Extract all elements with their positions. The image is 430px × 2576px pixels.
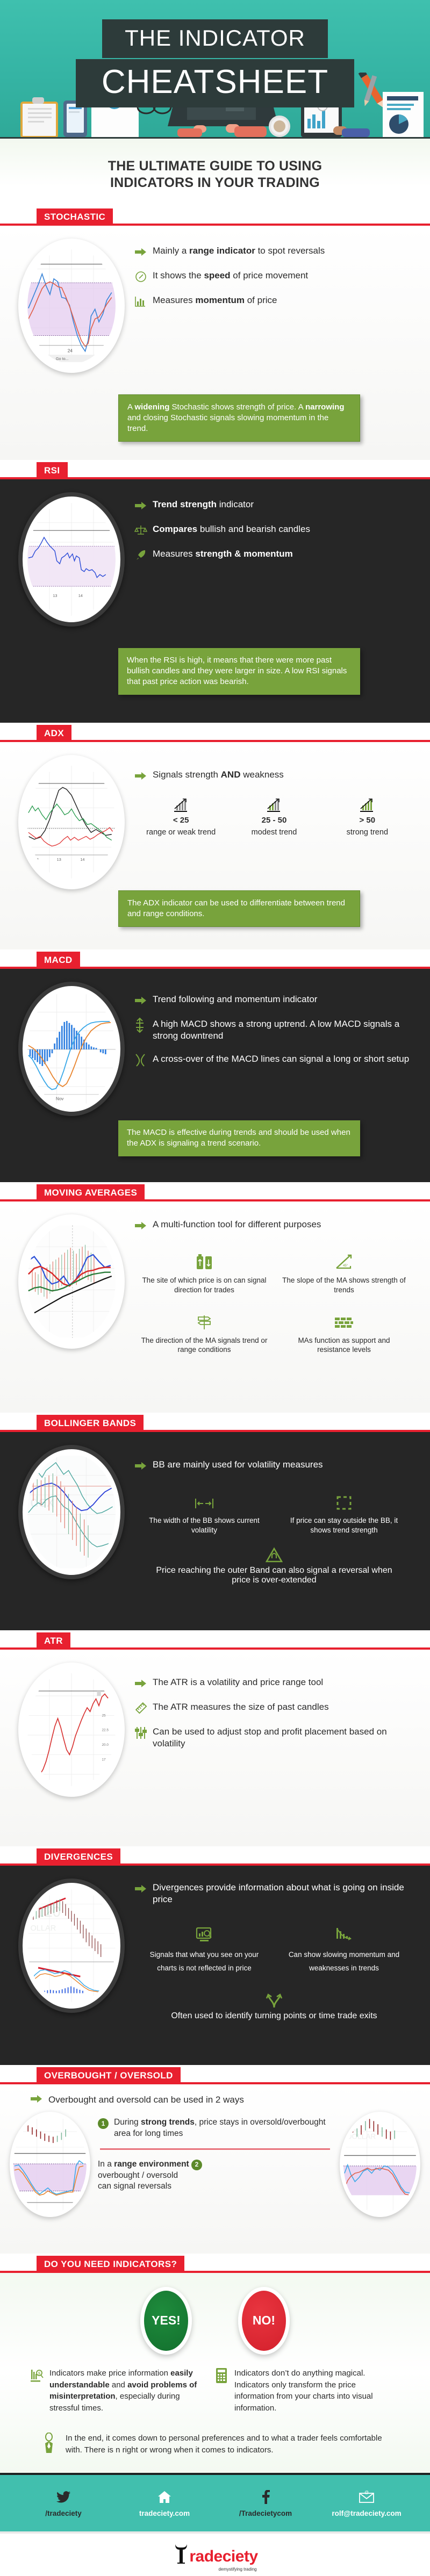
ma-mini-item: The site of which price is on can signal…: [134, 1243, 274, 1304]
footer-email-label: rolf@tradeciety.com: [316, 2509, 417, 2517]
footer-email[interactable]: @ rolf@tradeciety.com: [316, 2488, 417, 2517]
bb-chart-bubble: dex: [18, 1445, 125, 1579]
ma-bullets: A multi-function tool for different purp…: [125, 1214, 414, 1363]
ma-mini-grid: The site of which price is on can signal…: [134, 1243, 414, 1363]
home-icon: [114, 2488, 215, 2506]
section-label-row-div: DIVERGENCES: [0, 1846, 430, 1866]
section-adx: 12 13 14 Signals strength AND weakness: [0, 742, 430, 950]
ma-mini-text: The slope of the MA shows strength of tr…: [281, 1276, 407, 1295]
bullet-item: Measures strength & momentum: [134, 548, 414, 562]
hero-title-line2: CHEATSHEET: [76, 59, 354, 107]
divergences-mini-center-text: Often used to identify turning points or…: [147, 2011, 401, 2021]
signpost-icon: [141, 1309, 268, 1330]
atr-axis-tick: 17: [102, 1758, 106, 1761]
stochastic-chart-bubble: 24 Go to...: [18, 239, 125, 373]
section-label-row-obos: OVERBOUGHT / OVERSOLD: [0, 2065, 430, 2084]
yes-badge: YES!: [140, 2287, 192, 2355]
bullet-item: The ATR measures the size of past candle…: [134, 1701, 414, 1715]
bullet-item: Trend strength indicator: [134, 499, 414, 513]
tradeciety-tagline: demystifying trading: [218, 2567, 256, 2572]
section-label-atr: ATR: [37, 1632, 70, 1650]
adx-tier: 25 - 50 modest trend: [227, 794, 320, 837]
stochastic-bullets: Mainly a range indicator to spot reversa…: [125, 239, 414, 373]
ma-mini-item: MAs function as support and resistance l…: [274, 1304, 414, 1364]
growth-chart-icon: [321, 794, 414, 812]
subtitle-line2: INDICATORS IN YOUR TRADING: [0, 175, 430, 191]
macd-chart-svg: Nov: [27, 991, 116, 1107]
footer-bar: /tradeciety tradeciety.com /Tradecietyco…: [0, 2473, 430, 2534]
adx-tier-label: range or weak trend: [134, 828, 227, 837]
adx-callout: The ADX indicator can be used to differe…: [118, 890, 360, 927]
declining-bars-icon: [281, 1922, 407, 1943]
subtitle-band: THE ULTIMATE GUIDE TO USING INDICATORS I…: [0, 137, 430, 206]
facebook-icon: [215, 2488, 316, 2506]
infographic-page: THE INDICATOR CHEATSHEET THE ULTIMATE GU…: [0, 0, 430, 2576]
growth-chart-icon: [227, 794, 320, 812]
atr-chart-bubble: 25 22.5 20.0 17: [18, 1663, 125, 1797]
atr-axis-tick: 22.5: [102, 1729, 109, 1732]
section-label-row-stochastic: STOCHASTIC: [0, 206, 430, 226]
arrow-right-icon: [134, 1219, 153, 1233]
bb-mini-text: The width of the BB shows current volati…: [141, 1516, 268, 1535]
stochastic-axis-tick: 24: [68, 349, 73, 354]
divergences-watermark2: OLLAR: [30, 1924, 56, 1933]
bullet-item: The ATR is a volatility and price range …: [134, 1676, 414, 1690]
tradeciety-logo: radeciety demystifying trading: [172, 2543, 257, 2565]
obos-left-chart-svg: [13, 2116, 87, 2213]
rsi-chart-svg: 13 14: [27, 501, 116, 617]
rocket-icon: [134, 548, 153, 562]
atr-axis-tick: 20.0: [102, 1743, 109, 1747]
up-down-batteries-icon: [141, 1249, 268, 1270]
macd-axis-tick: Nov: [56, 1097, 64, 1102]
rsi-chart-bubble: 13 14: [18, 492, 125, 627]
price-chart-magnifier-icon: $: [30, 2368, 49, 2385]
bullet-item: Mainly a range indicator to spot reversa…: [134, 245, 414, 259]
brand-bar: radeciety demystifying trading: [0, 2534, 430, 2576]
hero-titles: THE INDICATOR CHEATSHEET: [0, 19, 430, 107]
macd-chart-bubble: Nov: [18, 982, 125, 1116]
bb-mini-grid: The width of the BB shows current volati…: [134, 1484, 414, 1587]
person-icon: [42, 2433, 66, 2457]
ma-mini-item: The direction of the MA signals trend or…: [134, 1304, 274, 1364]
obos-chart-bubble-right: 2 DOLLAR: [340, 2112, 420, 2217]
footer-twitter[interactable]: /tradeciety: [13, 2488, 114, 2517]
arrow-right-icon: [134, 769, 153, 783]
twitter-icon: [13, 2488, 114, 2506]
bar-chart-icon: [134, 294, 153, 308]
adx-axis-tick: 13: [57, 857, 61, 862]
email-icon: @: [316, 2488, 417, 2506]
rsi-axis-tick: 13: [53, 594, 57, 599]
brick-wall-icon: [281, 1309, 407, 1330]
footer-website-label: tradeciety.com: [114, 2509, 215, 2517]
fork-arrows-icon: [147, 1992, 401, 2011]
scales-icon: [134, 523, 153, 537]
section-atr: 25 22.5 20.0 17 The ATR is a volatility …: [0, 1650, 430, 1846]
section-label-moving-averages: MOVING AVERAGES: [37, 1184, 145, 1201]
ma-mini-text: The direction of the MA signals trend or…: [141, 1336, 268, 1355]
obos-divider: [100, 2148, 330, 2150]
section-label-adx: ADX: [37, 725, 71, 742]
ma-chart-svg: [27, 1224, 116, 1340]
section-label-row-adx: ADX: [0, 723, 430, 742]
no-column: Indicators don’t do anything magical. In…: [215, 2368, 400, 2414]
adx-bullets: Signals strength AND weakness < 25 range…: [125, 755, 414, 889]
section-stochastic: 24 Go to... Mainly a range indicator to …: [0, 226, 430, 460]
arrow-right-icon: [134, 1882, 153, 1896]
cross-over-icon: [134, 1053, 153, 1067]
chart-search-icon: [141, 1922, 268, 1943]
section-label-row-macd: MACD: [0, 949, 430, 969]
adx-tier-value: > 50: [321, 816, 414, 825]
rsi-callout: When the RSI is high, it means that ther…: [118, 648, 360, 694]
hero-banner: THE INDICATOR CHEATSHEET: [0, 0, 430, 137]
ma-chart-bubble: [18, 1214, 125, 1349]
badge-1: 1: [98, 2118, 109, 2129]
adx-tier-grid: < 25 range or weak trend 25 - 50 modest …: [134, 794, 414, 837]
bb-mini-center: Price reaching the outer Band can also s…: [134, 1544, 414, 1587]
section-label-divergences: DIVERGENCES: [37, 1848, 120, 1866]
growth-chart-icon: [134, 794, 227, 812]
rsi-bullets: Trend strength indicator Compares bullis…: [125, 492, 414, 627]
section-overbought: Overbought and oversold can be used in 2…: [0, 2084, 430, 2254]
bullet-item: It shows the speed of price movement: [134, 270, 414, 284]
calculator-icon: [215, 2368, 234, 2386]
bullet-item: A multi-function tool for different purp…: [134, 1219, 414, 1233]
bb-mini-item: If price can stay outside the BB, it sho…: [274, 1484, 414, 1544]
stochastic-chart-svg: 24 Go to...: [27, 248, 116, 364]
no-column-text: Indicators don’t do anything magical. In…: [234, 2368, 390, 2414]
bb-bullets: BB are mainly used for volatility measur…: [125, 1445, 414, 1587]
rsi-axis-tick: 14: [78, 594, 83, 599]
section-moving-averages: A multi-function tool for different purp…: [0, 1201, 430, 1413]
bullet-item: Measures momentum of price: [134, 294, 414, 308]
section-label-rsi: RSI: [37, 462, 68, 479]
yes-no-row: YES! NO!: [0, 2273, 430, 2360]
stochastic-goto-label: Go to...: [56, 356, 69, 361]
final-note-text: In the end, it comes down to personal pr…: [66, 2433, 388, 2457]
section-label-row-bb: BOLLINGER BANDS: [0, 1413, 430, 1432]
bb-mini-item: The width of the BB shows current volati…: [134, 1484, 274, 1544]
yes-no-columns: $ Indicators make price information easi…: [0, 2360, 430, 2414]
bull-horns-icon: [172, 2543, 190, 2565]
section-label-row-rsi: RSI: [0, 460, 430, 479]
bullet-item: Trend following and momentum indicator: [134, 994, 414, 1008]
arrow-right-icon: [30, 2094, 43, 2106]
bb-mini-text: If price can stay outside the BB, it sho…: [281, 1516, 407, 1535]
atr-axis-tick: 25: [102, 1714, 106, 1717]
ma-mini-item: 45° The slope of the MA shows strength o…: [274, 1243, 414, 1304]
adx-tier-label: modest trend: [227, 828, 320, 837]
atr-bullets: The ATR is a volatility and price range …: [125, 1663, 414, 1797]
adx-tier: > 50 strong trend: [321, 794, 414, 837]
section-label-stochastic: STOCHASTIC: [37, 208, 113, 226]
footer-twitter-label: /tradeciety: [13, 2509, 114, 2517]
obos-headline-text: Overbought and oversold can be used in 2…: [48, 2095, 244, 2105]
arrow-right-icon: [134, 245, 153, 259]
hero-title-line1: THE INDICATOR: [102, 19, 328, 58]
divergences-mini-item: Signals that what you see on your charts…: [134, 1916, 274, 1984]
section-need-indicators: YES! NO! $ Indicators make price informa…: [0, 2273, 430, 2473]
final-note: In the end, it comes down to personal pr…: [0, 2414, 430, 2473]
bullet-item: Signals strength AND weakness: [134, 769, 414, 783]
arrow-right-icon: [134, 1676, 153, 1690]
sliders-icon: [134, 1726, 153, 1740]
arrow-right-icon: [134, 1459, 153, 1473]
bullet-item: A high MACD shows a strong uptrend. A lo…: [134, 1018, 414, 1042]
speedometer-icon: [134, 270, 153, 284]
tradeciety-wordmark: radeciety: [189, 2549, 257, 2565]
obos-item-2: In a range environment 2overbought / ove…: [98, 2158, 332, 2193]
divergences-mini-text: Signals that what you see on your charts…: [141, 1948, 268, 1975]
badge-2: 2: [191, 2160, 202, 2170]
divergences-chart-svg: 120 OLLAR: [27, 1888, 116, 2004]
section-label-row-atr: ATR: [0, 1630, 430, 1650]
adx-tier-label: strong trend: [321, 828, 414, 837]
bullet-item: Divergences provide information about wh…: [134, 1882, 414, 1905]
footer-website[interactable]: tradeciety.com: [114, 2488, 215, 2517]
atr-chart-svg: 25 22.5 20.0 17: [27, 1672, 116, 1788]
ma-mini-text: The site of which price is on can signal…: [141, 1276, 268, 1295]
obos-headline: Overbought and oversold can be used in 2…: [0, 2084, 430, 2110]
section-label-overbought: OVERBOUGHT / OVERSOLD: [37, 2067, 181, 2084]
divergences-mini-text: Can show slowing momentum and weaknesses…: [281, 1948, 407, 1975]
divergences-mini-item: Can show slowing momentum and weaknesses…: [274, 1916, 414, 1984]
warning-triangle-icon: [147, 1547, 401, 1566]
yes-column: $ Indicators make price information easi…: [30, 2368, 215, 2414]
ruler-icon: [134, 1701, 153, 1715]
section-label-macd: MACD: [37, 952, 80, 969]
section-bollinger: dex: [0, 1432, 430, 1630]
bb-watermark: dex: [30, 1493, 54, 1510]
footer-facebook[interactable]: /Tradecietycom: [215, 2488, 316, 2517]
adx-chart-bubble: 12 13 14: [18, 755, 125, 889]
divergences-bullets: Divergences provide information about wh…: [125, 1879, 414, 2023]
bb-chart-svg: dex: [27, 1454, 116, 1570]
obos-item-1: 1 During strong trends, price stays in o…: [98, 2117, 332, 2140]
subtitle-line1: THE ULTIMATE GUIDE TO USING: [0, 158, 430, 175]
obos-right-chart-svg: 2 DOLLAR: [343, 2116, 417, 2213]
divergences-mini-grid: Signals that what you see on your charts…: [134, 1916, 414, 2023]
angle-45-icon: 45°: [281, 1249, 407, 1270]
divergences-chart-bubble: 120 OLLAR: [18, 1879, 125, 2013]
adx-tier: < 25 range or weak trend: [134, 794, 227, 837]
stochastic-callout: A widening Stochastic shows strength of …: [118, 394, 360, 442]
arrow-right-icon: [134, 499, 153, 513]
adx-chart-svg: 12 13 14: [27, 764, 116, 880]
bullet-item: A cross-over of the MACD lines can signa…: [134, 1053, 414, 1067]
section-label-bollinger: BOLLINGER BANDS: [37, 1415, 144, 1432]
section-divergences: 120 OLLAR: [0, 1866, 430, 2065]
arrow-right-icon: [134, 994, 153, 1008]
no-badge: NO!: [238, 2287, 290, 2355]
ma-mini-text: MAs function as support and resistance l…: [281, 1336, 407, 1355]
section-rsi: 13 14 Trend strength indicator Compar: [0, 479, 430, 722]
section-macd: Nov Trend following and momentum indicat…: [0, 969, 430, 1182]
divergences-mini-center: Often used to identify turning points or…: [134, 1984, 414, 2023]
bb-mini-center-text: Price reaching the outer Band can also s…: [147, 1566, 401, 1585]
svg-text:45°: 45°: [343, 1264, 348, 1268]
adx-axis-tick: 12: [34, 857, 39, 862]
adx-tier-value: < 25: [134, 816, 227, 825]
svg-text:$: $: [38, 2372, 40, 2376]
adx-axis-tick: 14: [80, 857, 84, 862]
svg-text:@: @: [364, 2491, 369, 2495]
bullet-item: Can be used to adjust stop and profit pl…: [134, 1726, 414, 1750]
width-measure-icon: [141, 1489, 268, 1510]
dashed-box-icon: [281, 1489, 407, 1510]
bullet-item: BB are mainly used for volatility measur…: [134, 1459, 414, 1473]
section-label-row-ma: MOVING AVERAGES: [0, 1182, 430, 1201]
macd-callout: The MACD is effective during trends and …: [118, 1120, 360, 1156]
macd-bullets: Trend following and momentum indicator A…: [125, 982, 414, 1116]
adx-tier-value: 25 - 50: [227, 816, 320, 825]
updown-arrows-icon: [134, 1018, 153, 1032]
section-label-need-indicators: DO YOU NEED INDICATORS?: [37, 2256, 184, 2273]
section-label-row-need: DO YOU NEED INDICATORS?: [0, 2254, 430, 2273]
footer-facebook-label: /Tradecietycom: [215, 2509, 316, 2517]
obos-chart-bubble-left: [10, 2112, 90, 2217]
bullet-item: Compares bullish and bearish candles: [134, 523, 414, 537]
